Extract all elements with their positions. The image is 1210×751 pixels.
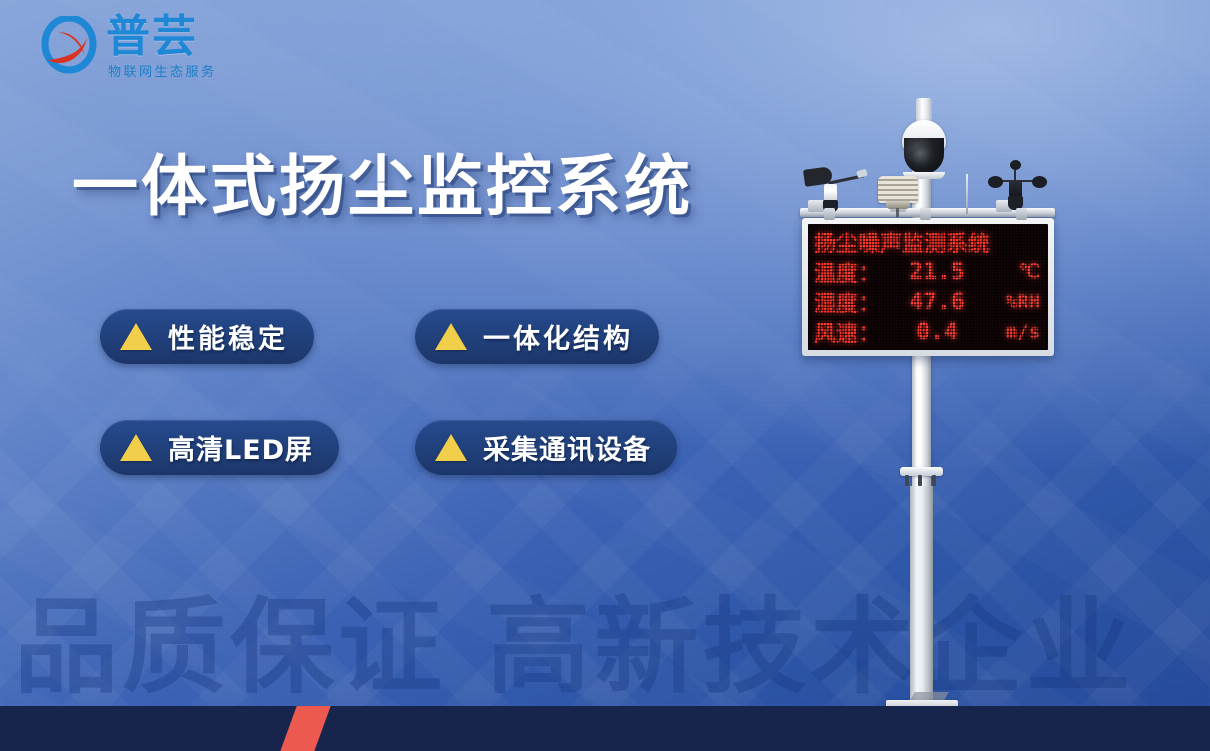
footer-accent-stripe bbox=[277, 706, 333, 751]
triangle-up-icon bbox=[435, 323, 467, 350]
led-title: 扬尘噪声监测系统 bbox=[814, 226, 990, 258]
led-title-row: 扬尘噪声监测系统 bbox=[814, 227, 1040, 257]
led-row-humidity: 湿度： 47.6 %RH bbox=[814, 287, 1040, 317]
led-display-panel: 扬尘噪声监测系统 温度： 21.5 ℃ 湿度： 47.6 %RH 风速： 0.4… bbox=[802, 218, 1054, 356]
panel-hanger bbox=[920, 208, 931, 220]
panel-hanger bbox=[824, 208, 835, 220]
feature-badge-label: 高清LED屏 bbox=[168, 428, 313, 467]
led-label: 风速： bbox=[814, 316, 880, 348]
led-value: 21.5 bbox=[880, 259, 994, 285]
footer-bar bbox=[0, 706, 1210, 751]
led-value: 0.4 bbox=[880, 319, 994, 345]
led-label: 湿度： bbox=[814, 286, 880, 318]
anemometer-body bbox=[1009, 180, 1022, 197]
led-unit: ℃ bbox=[994, 261, 1040, 283]
led-row-wind-speed: 风速： 0.4 m/s bbox=[814, 317, 1040, 347]
wind-vane-icon bbox=[804, 166, 866, 212]
feature-badge-data-comm-equipment: 采集通讯设备 bbox=[415, 420, 677, 475]
vane-tip bbox=[856, 169, 868, 178]
anemometer-cup bbox=[1032, 176, 1047, 188]
triangle-up-icon bbox=[120, 434, 152, 461]
antenna-icon bbox=[966, 174, 968, 214]
feature-badge-integrated-structure: 一体化结构 bbox=[415, 309, 659, 364]
brand-tagline: 物联网生态服务 bbox=[108, 61, 217, 80]
led-label: 温度： bbox=[814, 256, 880, 288]
page-title: 一体式扬尘监控系统 bbox=[72, 148, 693, 226]
anemometer-cup bbox=[988, 176, 1003, 188]
anemometer-cups-icon bbox=[988, 160, 1050, 212]
feature-badge-label: 一体化结构 bbox=[483, 317, 633, 356]
brand-logo: 普芸 物联网生态服务 bbox=[38, 14, 288, 86]
pole-lower-section bbox=[910, 486, 933, 706]
anemometer-cup bbox=[1010, 160, 1021, 170]
triangle-up-icon bbox=[435, 434, 467, 461]
led-row-temperature: 温度： 21.5 ℃ bbox=[814, 257, 1040, 287]
shield-plates bbox=[878, 176, 918, 203]
pole-bolt bbox=[932, 475, 936, 486]
ptz-dome-camera-icon bbox=[900, 98, 948, 180]
brand-name: 普芸 bbox=[106, 12, 198, 62]
led-unit: m/s bbox=[994, 321, 1040, 343]
camera-lens bbox=[911, 146, 935, 168]
feature-badge-label: 采集通讯设备 bbox=[483, 428, 651, 467]
feature-badge-label: 性能稳定 bbox=[168, 317, 288, 356]
radiation-shield-sensor-icon bbox=[876, 176, 920, 216]
circle-crescent-logo-icon bbox=[38, 16, 100, 78]
panel-hanger bbox=[1016, 208, 1027, 220]
feature-badge-hd-led-screen: 高清LED屏 bbox=[100, 420, 339, 475]
led-screen: 扬尘噪声监测系统 温度： 21.5 ℃ 湿度： 47.6 %RH 风速： 0.4… bbox=[808, 224, 1048, 350]
promotional-banner: 普芸 物联网生态服务 一体式扬尘监控系统 性能稳定 一体化结构 高清LED屏 采… bbox=[0, 0, 1210, 751]
led-unit: %RH bbox=[994, 291, 1040, 313]
triangle-up-icon bbox=[120, 323, 152, 350]
dust-monitoring-station: 扬尘噪声监测系统 温度： 21.5 ℃ 湿度： 47.6 %RH 风速： 0.4… bbox=[760, 78, 1100, 718]
feature-badge-performance: 性能稳定 bbox=[100, 309, 314, 364]
led-value: 47.6 bbox=[880, 289, 994, 315]
pole-bolt bbox=[905, 475, 909, 486]
pole-bolt bbox=[918, 475, 922, 486]
shield-probe bbox=[896, 208, 899, 217]
